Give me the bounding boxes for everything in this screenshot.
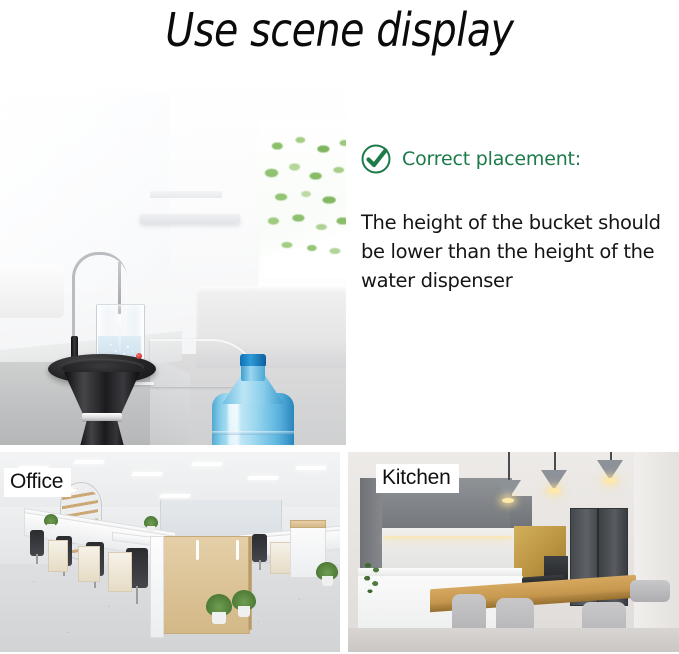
scene-tag-office: Office <box>4 468 71 497</box>
wall-shelf-upper <box>150 191 222 198</box>
room-window <box>258 120 346 298</box>
pendant-cord <box>508 452 510 482</box>
plant-pot <box>322 576 333 586</box>
ceiling-light <box>295 466 327 470</box>
kitchen-floor <box>348 628 679 652</box>
ceiling-light <box>191 462 223 466</box>
power-button-icon <box>136 353 142 359</box>
plant-pot <box>147 526 155 532</box>
pendant-lamp <box>495 480 521 500</box>
chair-leg <box>259 560 261 570</box>
cabinet-handle <box>236 540 239 560</box>
pendant-light-glow <box>604 478 616 483</box>
correct-placement-label: Correct placement: <box>402 148 581 170</box>
pendant-light-glow <box>548 488 560 493</box>
bed <box>0 264 64 318</box>
correct-placement-row: Correct placement: <box>360 143 581 175</box>
backsplash <box>382 528 514 570</box>
scene-tag-kitchen: Kitchen <box>376 464 459 493</box>
water-stream <box>118 314 121 354</box>
cabinet-handle <box>196 540 199 560</box>
plant-pot <box>238 606 250 617</box>
pedestal-drawers <box>48 540 68 572</box>
pedestal-drawers <box>108 552 132 592</box>
foliage-icon <box>260 128 346 278</box>
check-circle-icon <box>360 143 392 175</box>
wall-shelf <box>140 214 240 223</box>
countertop <box>358 568 522 576</box>
ceiling-light <box>159 494 191 498</box>
plant-pot <box>47 524 55 530</box>
dining-chair-far <box>630 580 670 602</box>
office-chair <box>30 530 44 556</box>
page-header: Use scene display <box>0 0 679 84</box>
water-bottle-cap <box>240 354 266 366</box>
pendant-lamp <box>597 460 623 480</box>
hero-product-photo <box>0 86 346 445</box>
water-bottle-rib <box>212 431 294 435</box>
page-title: Use scene display <box>48 1 632 59</box>
placement-instruction-text: The height of the bucket should be lower… <box>361 208 673 295</box>
filing-cabinet-top <box>290 520 326 528</box>
potted-plant <box>362 560 382 598</box>
scene-photo-office: Office <box>0 452 340 652</box>
ceiling-light <box>131 472 163 476</box>
pedestal-drawers <box>78 546 100 582</box>
kitchen-right-wall <box>634 452 679 652</box>
under-cabinet-light <box>384 536 512 539</box>
ceiling-light <box>73 460 105 464</box>
pendant-cord <box>554 452 556 472</box>
instruction-panel: Correct placement: The height of the buc… <box>352 86 679 445</box>
chair-leg <box>36 554 38 564</box>
chair-leg <box>136 586 138 604</box>
ceiling-light <box>247 476 279 480</box>
pendant-lamp <box>541 470 567 490</box>
pedestal-drawers <box>270 542 292 574</box>
storage-cabinet-side <box>150 536 164 638</box>
office-chair <box>252 534 267 562</box>
plant-pot <box>212 612 226 624</box>
scene-photo-kitchen: Kitchen <box>348 452 679 652</box>
pendant-light-glow <box>502 498 514 503</box>
dispenser-chrome-ring <box>82 413 122 422</box>
water-bottle-highlight <box>228 398 239 445</box>
